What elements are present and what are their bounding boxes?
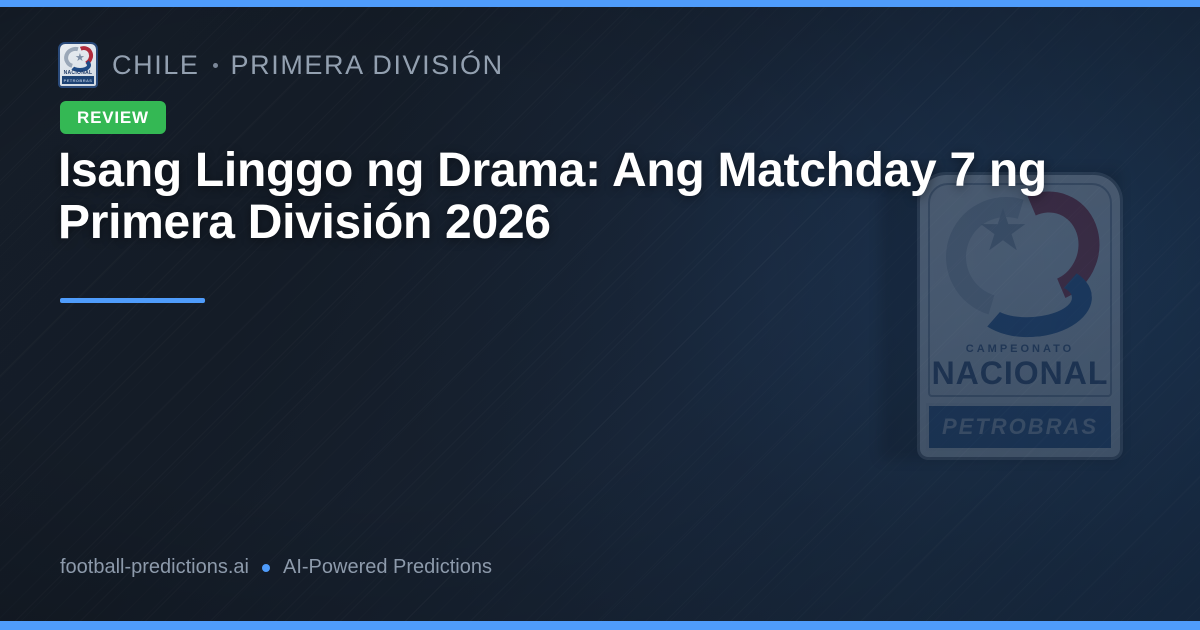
social-share-card: CAMPEONATO NACIONAL PETROBRAS ★ NACIONAL… [0, 0, 1200, 630]
page-title: Isang Linggo ng Drama: Ang Matchday 7 ng… [58, 145, 1088, 249]
breadcrumb-competition: PRIMERA DIVISIÓN [231, 50, 504, 81]
league-logo-icon: ★ NACIONAL PETROBRAS [60, 44, 96, 86]
footer-separator-dot-icon [262, 564, 270, 572]
footer-site-name: football-predictions.ai [60, 556, 249, 579]
breadcrumb-header: ★ NACIONAL PETROBRAS CHILE PRIMERA DIVIS… [60, 44, 504, 86]
logo-sponsor-label: PETROBRAS [64, 78, 93, 83]
logo-star-icon: ★ [75, 53, 85, 64]
crest-nacional-label: NACIONAL [920, 355, 1120, 392]
crest-sponsor-bar: PETROBRAS [926, 403, 1114, 451]
crest-sponsor-label: PETROBRAS [942, 414, 1098, 440]
footer: football-predictions.ai AI-Powered Predi… [60, 556, 492, 579]
status-badge: REVIEW [60, 101, 166, 134]
top-accent-bar [0, 0, 1200, 7]
breadcrumb-country: CHILE [112, 50, 200, 81]
footer-tagline: AI-Powered Predictions [283, 556, 492, 579]
title-underline-accent [60, 298, 205, 303]
breadcrumb-separator-dot-icon [213, 63, 218, 68]
logo-sponsor-bar: PETROBRAS [62, 76, 94, 84]
breadcrumb: CHILE PRIMERA DIVISIÓN [112, 50, 504, 81]
crest-campeonato-label: CAMPEONATO [920, 343, 1120, 355]
bottom-accent-bar [0, 621, 1200, 630]
